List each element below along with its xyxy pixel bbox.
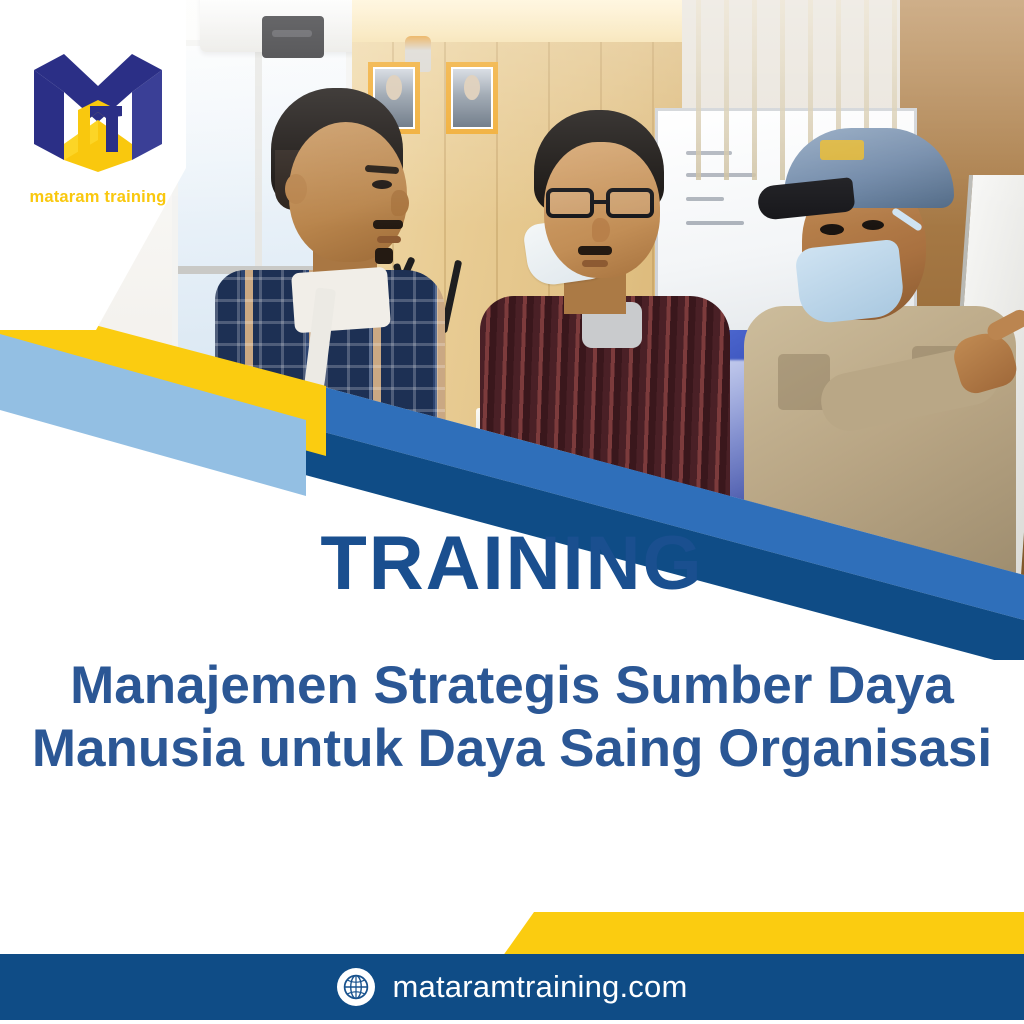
subtitle-line-1: Manajemen Strategis Sumber Daya [20, 655, 1004, 718]
website-url: mataramtraining.com [393, 969, 688, 1005]
brand-logo: mataram training [14, 48, 182, 233]
page-title: TRAINING [0, 520, 1024, 607]
globe-icon [337, 968, 375, 1006]
training-poster: mataram training TRAINING Manajemen Stra… [0, 0, 1024, 1024]
logo-wordmark: mataram training [14, 188, 182, 207]
yellow-accent-slab [500, 912, 1024, 960]
ceiling-light-glow [352, 0, 682, 42]
footer-bar: mataramtraining.com [0, 954, 1024, 1020]
subtitle-line-2: Manusia untuk Daya Saing Organisasi [20, 718, 1004, 781]
subtitle: Manajemen Strategis Sumber Daya Manusia … [20, 655, 1004, 780]
projector-icon [262, 16, 324, 58]
mataram-m-cube-logo-icon [28, 48, 168, 178]
